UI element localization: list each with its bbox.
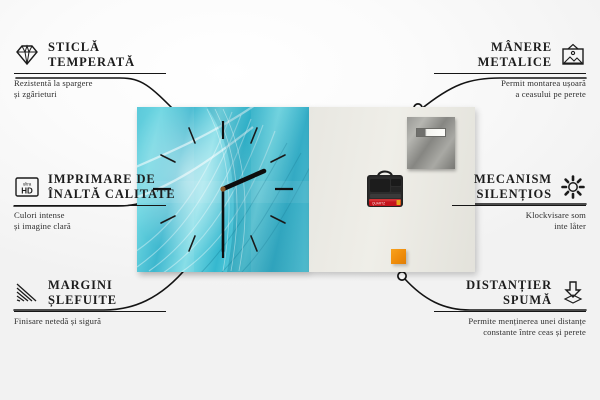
feature-title-line-1: IMPRIMARE DE [48,172,176,187]
feature-subtitle-line-2: inte låter [452,221,586,232]
feature-subtitle-line-1: Rezistentă la spargere [14,78,166,89]
ultra-hd-icon: ultra HD [14,174,40,200]
beveled-edge-icon [14,280,40,306]
feature-title-line-2: METALICE [434,55,552,70]
feature-metal-hangers: MÂNERE METALICE Permit montarea ușoară a… [434,40,586,100]
feature-high-quality-print: ultra HD IMPRIMARE DE ÎNALTĂ CALITATE Cu… [14,172,166,232]
feature-title-line-1: MÂNERE [434,40,552,55]
feature-subtitle-line-1: Permit montarea ușoară [434,78,586,89]
feature-title-line-1: MARGINI [48,278,117,293]
feature-title-line-1: DISTANȚIER [434,278,552,293]
feature-subtitle-line-1: Klockvisare som [452,210,586,221]
feature-title-line-2: SILENȚIOS [452,187,552,202]
divider [434,73,586,74]
feature-subtitle-line-2: constante între ceas și perete [434,327,586,338]
feature-subtitle-line-1: Culori intense [14,210,166,221]
svg-text:HD: HD [21,187,33,196]
feature-subtitle-line-2: a ceasului pe perete [434,89,586,100]
wall-hanger-icon [560,42,586,68]
divider [434,311,586,312]
infographic-stage: QUARTZ STICLĂ TEMPERATĂ Rezistentă la sp… [0,0,600,400]
feature-title-line-2: SPUMĂ [434,293,552,308]
divider [14,311,166,312]
feature-title-line-1: STICLĂ [48,40,135,55]
feature-foam-spacer: DISTANȚIER SPUMĂ Permite menținerea unei… [434,278,586,338]
metal-plate-accessory [407,117,455,169]
divider [452,205,586,206]
foam-spacer-accessory [391,249,406,264]
feature-subtitle-line-1: Finisare netedă și sigură [14,316,166,327]
endpoint-dot-foam-spacer [398,272,406,280]
clock-mechanism-accessory: QUARTZ [364,167,406,209]
svg-text:QUARTZ: QUARTZ [372,201,385,205]
divider [14,73,166,74]
clock-hands [220,171,264,251]
product-photo: QUARTZ [137,107,475,272]
feature-tempered-glass: STICLĂ TEMPERATĂ Rezistentă la spargere … [14,40,166,100]
feature-subtitle-line-2: și imagine clară [14,221,166,232]
hanger-strip [416,128,446,137]
feature-title-line-2: ȘLEFUITE [48,293,117,308]
feature-title-line-2: ÎNALTĂ CALITATE [48,187,176,202]
gear-icon [560,174,586,200]
accessories-panel: QUARTZ [309,107,475,272]
diamond-icon [14,42,40,68]
feature-polished-edges: MARGINI ȘLEFUITE Finisare netedă și sigu… [14,278,166,327]
feature-subtitle-line-2: și zgârieturi [14,89,166,100]
feature-title-line-1: MECANISM [452,172,552,187]
feature-title-line-2: TEMPERATĂ [48,55,135,70]
divider [14,205,166,206]
feature-silent-mechanism: MECANISM SILENȚIOS Klockvisare som inte … [452,172,586,232]
down-arrow-stack-icon [560,280,586,306]
feature-subtitle-line-1: Permite menținerea unei distanțe [434,316,586,327]
